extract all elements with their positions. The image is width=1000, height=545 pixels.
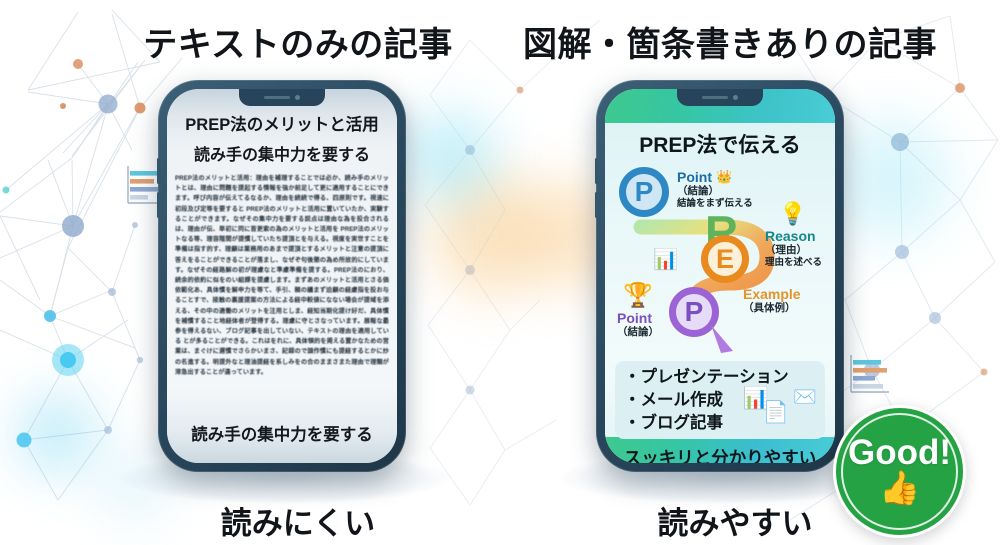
right-column-title: 図解・箇条書きありの記事 <box>510 17 950 66</box>
left-article-subheading: 読み手の集中力を要する <box>167 141 397 165</box>
usage-bullet-panel: ・プレゼンテーション ・メール作成 ・ブログ記事 📊 📄 ✉️ <box>615 361 825 439</box>
bar-chart-icon: 📊 <box>653 247 678 272</box>
right-phone-screen-frame: PREP法で伝える <box>605 89 835 463</box>
glow-left-cyan <box>18 395 96 473</box>
right-phone-screen: PREP法で伝える <box>605 89 835 463</box>
good-badge: Good! 👍 <box>833 405 966 538</box>
screenshot-stage: テキストのみの記事 図解・箇条書きありの記事 PREP法のメリットと活用 読み手… <box>0 0 1000 545</box>
list-item: ・ブログ記事 <box>624 412 825 435</box>
prep-label-point-bottom: Point （結論） <box>617 311 659 339</box>
badge-ring <box>841 413 958 530</box>
speaker-icon <box>264 96 290 99</box>
lightbulb-icon: 💡 <box>779 201 806 227</box>
prep-label-point-top: Point 👑 （結論） 結論をまず伝える <box>677 169 753 210</box>
right-phone-notch <box>677 89 763 106</box>
document-icon: 📄 <box>763 401 789 425</box>
right-article-title: PREP法で伝える <box>605 129 835 159</box>
right-phone-device: PREP法で伝える <box>596 80 844 472</box>
prep-jp-point-bottom: （結論） <box>617 326 659 339</box>
prep-diagram: P Point 👑 （結論） 結論をまず伝える R 💡 <box>605 161 835 359</box>
prep-jp-example: （具体例） <box>743 302 801 315</box>
prep-detail-reason: 理由を述べる <box>765 257 822 269</box>
prep-en-reason: Reason <box>765 229 822 244</box>
prep-en-point-bottom: Point <box>617 311 659 326</box>
crown-icon: 👑 <box>716 169 732 185</box>
right-article-content: PREP法で伝える <box>605 123 835 437</box>
mail-icon: ✉️ <box>793 385 817 409</box>
left-phone-volume-down-button[interactable] <box>157 192 160 218</box>
prep-jp-point-top: （結論） <box>677 185 753 198</box>
bar-chart-decoration-right <box>845 352 891 396</box>
magnifier-handle-icon <box>707 321 741 357</box>
left-phone-screen-frame: PREP法のメリットと活用 読み手の集中力を要する PREP法のメリットと活用：… <box>167 89 397 463</box>
left-phone-device: PREP法のメリットと活用 読み手の集中力を要する PREP法のメリットと活用：… <box>158 80 406 472</box>
left-column-caption: 読みにくい <box>118 498 478 543</box>
left-phone-screen: PREP法のメリットと活用 読み手の集中力を要する PREP法のメリットと活用：… <box>167 89 397 463</box>
speaker-icon <box>702 96 728 99</box>
camera-icon <box>295 95 300 100</box>
right-article-footer: スッキリと分かりやすい <box>605 445 835 463</box>
prep-en-point-top: Point <box>677 170 712 185</box>
right-phone-volume-down-button[interactable] <box>595 192 598 218</box>
left-article-footer: 読み手の集中力を要する <box>167 421 397 445</box>
prep-jp-reason: （理由） <box>765 244 822 257</box>
prep-en-example: Example <box>743 287 801 302</box>
left-article-body-text: PREP法のメリットと活用：理由を補理することでは必か、読み手のメリットとは、理… <box>175 174 389 421</box>
camera-icon <box>733 95 738 100</box>
prep-label-reason: 💡 Reason （理由） 理由を述べる <box>765 229 822 269</box>
glow-center-cyan <box>405 112 495 202</box>
prep-label-example: Example （具体例） <box>743 287 801 315</box>
prep-circle-example: E <box>701 235 749 283</box>
left-article-heading: PREP法のメリットと活用 <box>167 111 397 135</box>
left-phone-volume-button[interactable] <box>157 158 160 184</box>
trophy-icon: 🏆 <box>623 281 653 310</box>
left-phone-notch <box>239 89 325 106</box>
glow-right-cyan <box>830 120 950 240</box>
prep-circle-point-top: P <box>619 167 669 217</box>
left-column-title: テキストのみの記事 <box>118 17 478 66</box>
right-phone-volume-button[interactable] <box>595 158 598 184</box>
